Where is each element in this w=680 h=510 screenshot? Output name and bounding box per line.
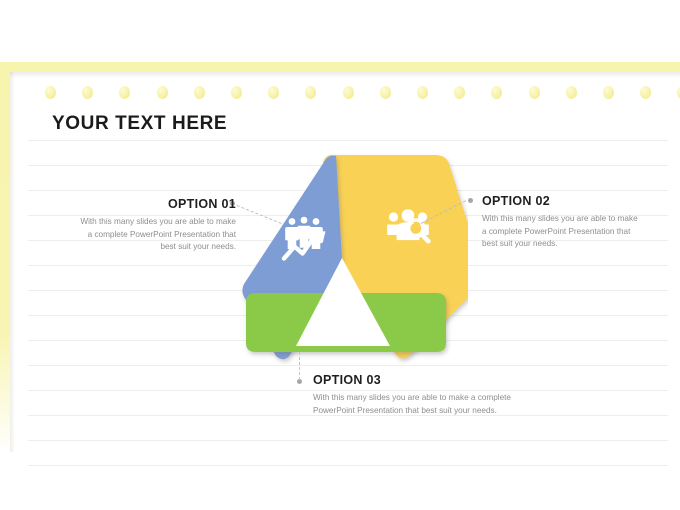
decorative-dot (640, 86, 651, 99)
decorative-dot (268, 86, 279, 99)
frame-top-border (0, 62, 680, 72)
connector-dot-option-02 (468, 198, 473, 203)
decorative-dot (45, 86, 56, 99)
option-03-body: With this many slides you are able to ma… (313, 392, 523, 417)
decorative-dot (231, 86, 242, 99)
decorative-dot (417, 86, 428, 99)
option-02-title: OPTION 02 (482, 194, 550, 208)
rule-line (28, 440, 668, 441)
decorative-dot (454, 86, 465, 99)
decorative-dot (305, 86, 316, 99)
decorative-dot (491, 86, 502, 99)
slide-canvas: YOUR TEXT HERE (0, 0, 680, 510)
rule-line (28, 465, 668, 466)
rule-line (28, 140, 668, 141)
option-01-body: With this many slides you are able to ma… (76, 216, 236, 254)
connector-line-option-03 (299, 352, 300, 380)
option-01-title: OPTION 01 (168, 197, 236, 211)
triangle-cycle-diagram (238, 150, 468, 365)
decorative-dot (529, 86, 540, 99)
decorative-dot (566, 86, 577, 99)
decorative-dot (82, 86, 93, 99)
decorative-dot (343, 86, 354, 99)
decorative-dot (157, 86, 168, 99)
frame-top-shadow (10, 72, 680, 78)
rule-line (28, 365, 668, 366)
decorative-dot (194, 86, 205, 99)
frame-left-shadow (10, 72, 15, 452)
option-03-title: OPTION 03 (313, 373, 381, 387)
page-title: YOUR TEXT HERE (52, 113, 227, 135)
decorative-dot-row (0, 86, 680, 100)
decorative-dot (380, 86, 391, 99)
rule-line (28, 390, 668, 391)
decorative-dot (119, 86, 130, 99)
decorative-dot (603, 86, 614, 99)
frame-left-border (0, 62, 10, 452)
option-02-body: With this many slides you are able to ma… (482, 213, 642, 251)
